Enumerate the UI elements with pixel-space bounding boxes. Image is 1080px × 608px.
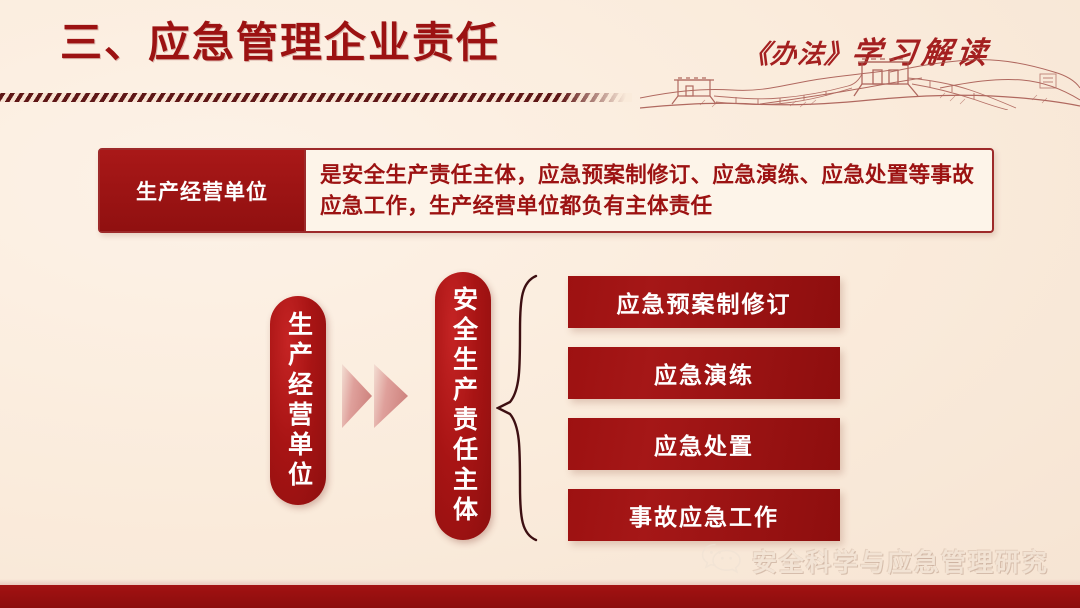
list-item-label: 应急处置 (654, 427, 754, 461)
diagram-source-pill-label: 生产经营单位 (286, 311, 311, 491)
slide-canvas: 三、应急管理企业责任 《办法》学习解读 (0, 0, 1080, 608)
list-item: 应急演练 (568, 347, 840, 399)
definition-text: 是安全生产责任主体，应急预案制修订、应急演练、应急处置等事故应急工作，生产经营单… (306, 150, 992, 231)
diagram-target-pill: 安全生产责任主体 (435, 272, 491, 540)
list-item: 事故应急工作 (568, 489, 840, 541)
wechat-logo-icon (700, 541, 742, 580)
diagonal-hatch-divider-icon (0, 93, 632, 102)
divider-fade-overlay (560, 93, 632, 102)
list-item-label: 应急预案制修订 (617, 285, 792, 319)
double-chevron-right-icon (340, 358, 412, 434)
list-item-label: 事故应急工作 (629, 498, 779, 532)
list-item: 应急处置 (568, 418, 840, 470)
watermark-text: 安全科学与应急管理研究 (752, 543, 1049, 579)
diagram-target-pill-label: 安全生产责任主体 (451, 286, 476, 526)
curly-brace-icon (496, 272, 542, 544)
list-item: 应急预案制修订 (568, 276, 840, 328)
page-title: 三、应急管理企业责任 (60, 22, 500, 64)
definition-label: 生产经营单位 (100, 150, 306, 231)
great-wall-illustration-icon (640, 48, 1080, 110)
list-item-label: 应急演练 (654, 356, 754, 390)
diagram-source-pill: 生产经营单位 (270, 296, 326, 505)
watermark: 安全科学与应急管理研究 (700, 541, 1049, 580)
bottom-bar (0, 585, 1080, 608)
definition-box: 生产经营单位 是安全生产责任主体，应急预案制修订、应急演练、应急处置等事故应急工… (98, 148, 994, 233)
